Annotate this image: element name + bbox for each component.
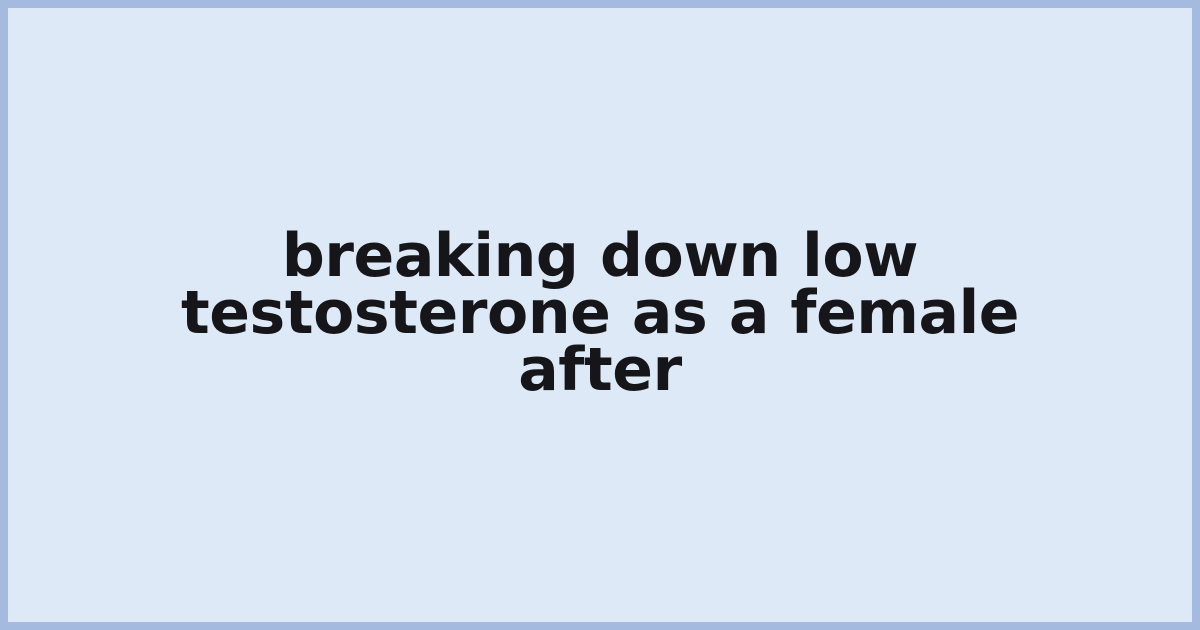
headline-text: breaking down low testosterone as a fema… — [100, 228, 1100, 399]
share-card: breaking down low testosterone as a fema… — [0, 0, 1200, 630]
card-surface: breaking down low testosterone as a fema… — [8, 8, 1192, 622]
